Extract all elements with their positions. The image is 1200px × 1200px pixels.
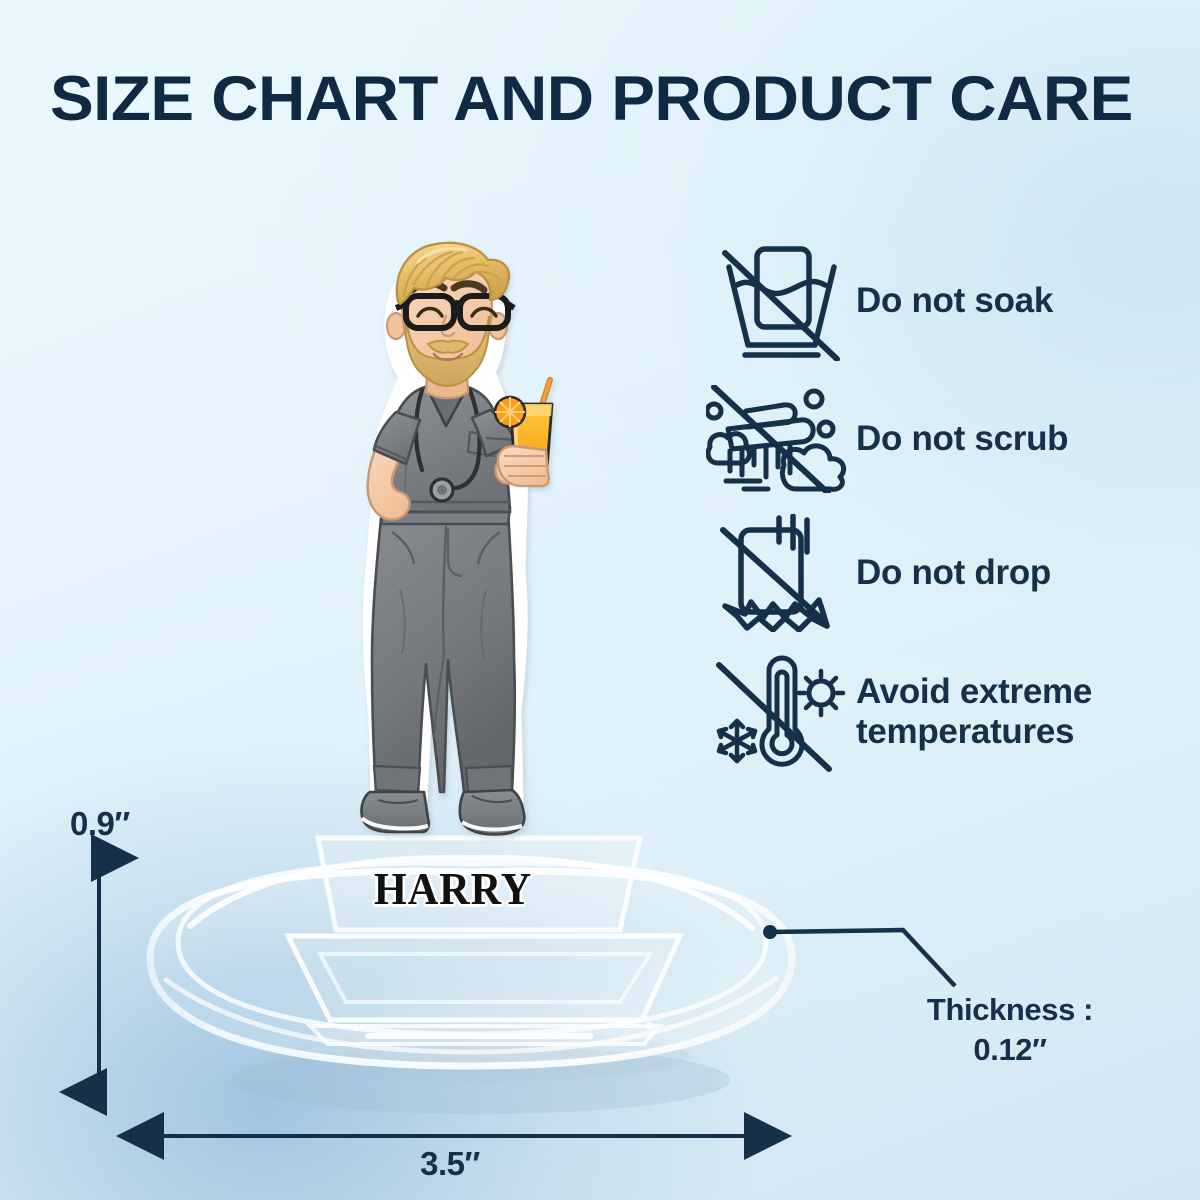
- width-dimension-label: 3.5″: [0, 1145, 900, 1183]
- care-item-label: Avoid extreme temperatures: [856, 672, 1176, 752]
- care-item-avoid-extreme-temperatures: Avoid extreme temperatures: [706, 648, 1176, 776]
- height-dimension-label: 0.9″: [70, 805, 130, 843]
- care-instructions-list: Do not soak: [706, 236, 1176, 790]
- thickness-label: Thickness : 0.12″: [880, 990, 1140, 1069]
- avoid-extreme-temperatures-icon: [706, 651, 856, 773]
- care-item-do-not-soak: Do not soak: [706, 236, 1176, 366]
- do-not-scrub-icon: [706, 385, 856, 493]
- care-item-label: Do not soak: [856, 281, 1053, 321]
- thickness-value-text: 0.12″: [973, 1032, 1046, 1067]
- care-item-label: Do not scrub: [856, 419, 1068, 459]
- care-item-do-not-drop: Do not drop: [706, 512, 1176, 634]
- care-item-label: Do not drop: [856, 553, 1051, 593]
- care-item-do-not-scrub: Do not scrub: [706, 380, 1176, 498]
- character-figure: [318, 240, 588, 880]
- name-plate: HARRY: [329, 862, 577, 915]
- thickness-label-text: Thickness :: [927, 992, 1093, 1027]
- do-not-soak-icon: [706, 241, 856, 361]
- page-title: SIZE CHART AND PRODUCT CARE: [50, 68, 1133, 131]
- do-not-drop-icon: [706, 514, 856, 632]
- size-chart-page: SIZE CHART AND PRODUCT CARE: [0, 0, 1200, 1200]
